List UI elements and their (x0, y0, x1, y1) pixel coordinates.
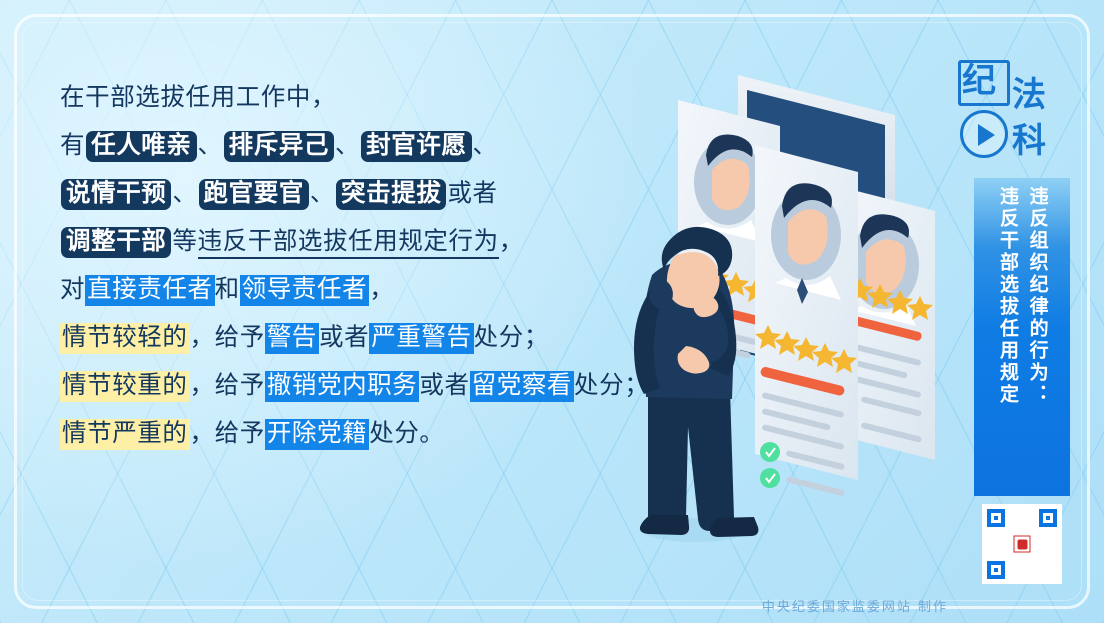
copy-segment-plain: 或者 (419, 372, 469, 399)
copy-segment-plain: 处分； (574, 372, 649, 399)
qr-code-pattern (986, 508, 1058, 580)
copy-segment-underline: 违反干部选拔任用规定行为 (198, 228, 499, 259)
copy-segment-chip: 封官许愿 (361, 131, 471, 162)
copy-line: 在干部选拔任用工作中， (60, 74, 670, 122)
copy-segment-hl-yellow: 情节严重的 (60, 419, 190, 450)
copy-segment-hl-yellow: 情节较重的 (60, 371, 190, 402)
copy-segment-plain: ，给予 (190, 420, 265, 447)
copy-segment-plain: 、 (335, 132, 360, 159)
copy-segment-chip: 调整干部 (61, 227, 171, 258)
copy-segment-hl-blue: 直接责任者 (85, 275, 215, 306)
copy-segment-plain: 和 (215, 276, 240, 303)
copy-line: 情节严重的，给予开除党籍处分。 (60, 410, 670, 458)
right-rail: 纪 法 科 (950, 62, 1070, 180)
copy-segment-plain: ， (499, 228, 524, 255)
copy-segment-chip: 排斥异己 (224, 131, 334, 162)
qr-finder-bottom-left (987, 561, 1005, 579)
copy-segment-hl-blue: 警告 (265, 323, 319, 354)
copy-segment-plain: 、 (172, 180, 197, 207)
logo-char-fa: 法 (1012, 78, 1046, 112)
footer-credit: 中央纪委国家监委网站 制作 (762, 596, 948, 615)
copy-segment-plain: 在干部选拔任用工作中， (60, 84, 336, 111)
copy-segment-plain: 或者 (447, 180, 497, 207)
copy-segment-plain: 、 (473, 132, 498, 159)
copy-line: 说情干预、跑官要官、突击提拔或者 (60, 170, 670, 218)
copy-segment-plain: 等 (172, 228, 197, 255)
copy-line: 情节较轻的，给予警告或者严重警告处分； (60, 314, 670, 362)
body-copy: 在干部选拔任用工作中，有任人唯亲、排斥异己、封官许愿、说情干预、跑官要官、突击提… (60, 74, 670, 458)
check-icon (760, 468, 780, 488)
copy-segment-plain: 处分。 (369, 420, 444, 447)
copy-line: 情节较重的，给予撤销党内职务或者留党察看处分； (60, 362, 670, 410)
copy-segment-plain: 有 (60, 132, 85, 159)
copy-segment-hl-blue: 领导责任者 (240, 275, 370, 306)
vertical-line-secondary: 违反干部选拔任用规定 (994, 186, 1020, 488)
qr-finder-top-right (1039, 509, 1057, 527)
copy-segment-plain: ， (369, 276, 394, 303)
vertical-title-panel: 违反组织纪律的行为： 违反干部选拔任用规定 (974, 178, 1070, 496)
logo-char-ji: 纪 (962, 64, 996, 98)
copy-segment-plain: ，给予 (190, 372, 265, 399)
copy-segment-chip: 任人唯亲 (86, 131, 196, 162)
qr-finder-top-left (987, 509, 1005, 527)
play-icon (978, 124, 995, 146)
copy-segment-plain: 或者 (319, 324, 369, 351)
copy-line: 对直接责任者和领导责任者， (60, 266, 670, 314)
brand-logo[interactable]: 纪 法 科 (954, 62, 1066, 172)
vertical-line-primary: 违反组织纪律的行为： (1024, 186, 1050, 488)
copy-segment-plain: 、 (310, 180, 335, 207)
copy-segment-plain: ，给予 (190, 324, 265, 351)
copy-segment-chip: 跑官要官 (199, 179, 309, 210)
logo-char-ke: 科 (1012, 124, 1046, 158)
copy-segment-plain: 处分； (474, 324, 549, 351)
copy-segment-hl-blue: 留党察看 (470, 371, 574, 402)
copy-line: 有任人唯亲、排斥异己、封官许愿、 (60, 122, 670, 170)
copy-segment-hl-blue: 严重警告 (369, 323, 473, 354)
check-icon (760, 442, 780, 462)
copy-segment-plain: 对 (60, 276, 85, 303)
copy-segment-chip: 突击提拔 (336, 179, 446, 210)
resume-card-2 (755, 145, 858, 496)
copy-segment-hl-blue: 开除党籍 (265, 419, 369, 450)
qr-center-seal (1014, 536, 1031, 553)
copy-segment-plain: 、 (198, 132, 223, 159)
copy-segment-hl-blue: 撤销党内职务 (265, 371, 420, 402)
copy-line: 调整干部等违反干部选拔任用规定行为， (60, 218, 670, 266)
qr-code[interactable] (982, 504, 1062, 584)
copy-segment-chip: 说情干预 (61, 179, 171, 210)
copy-segment-hl-yellow: 情节较轻的 (60, 323, 190, 354)
poster-root: 在干部选拔任用工作中，有任人唯亲、排斥异己、封官许愿、说情干预、跑官要官、突击提… (0, 0, 1104, 623)
